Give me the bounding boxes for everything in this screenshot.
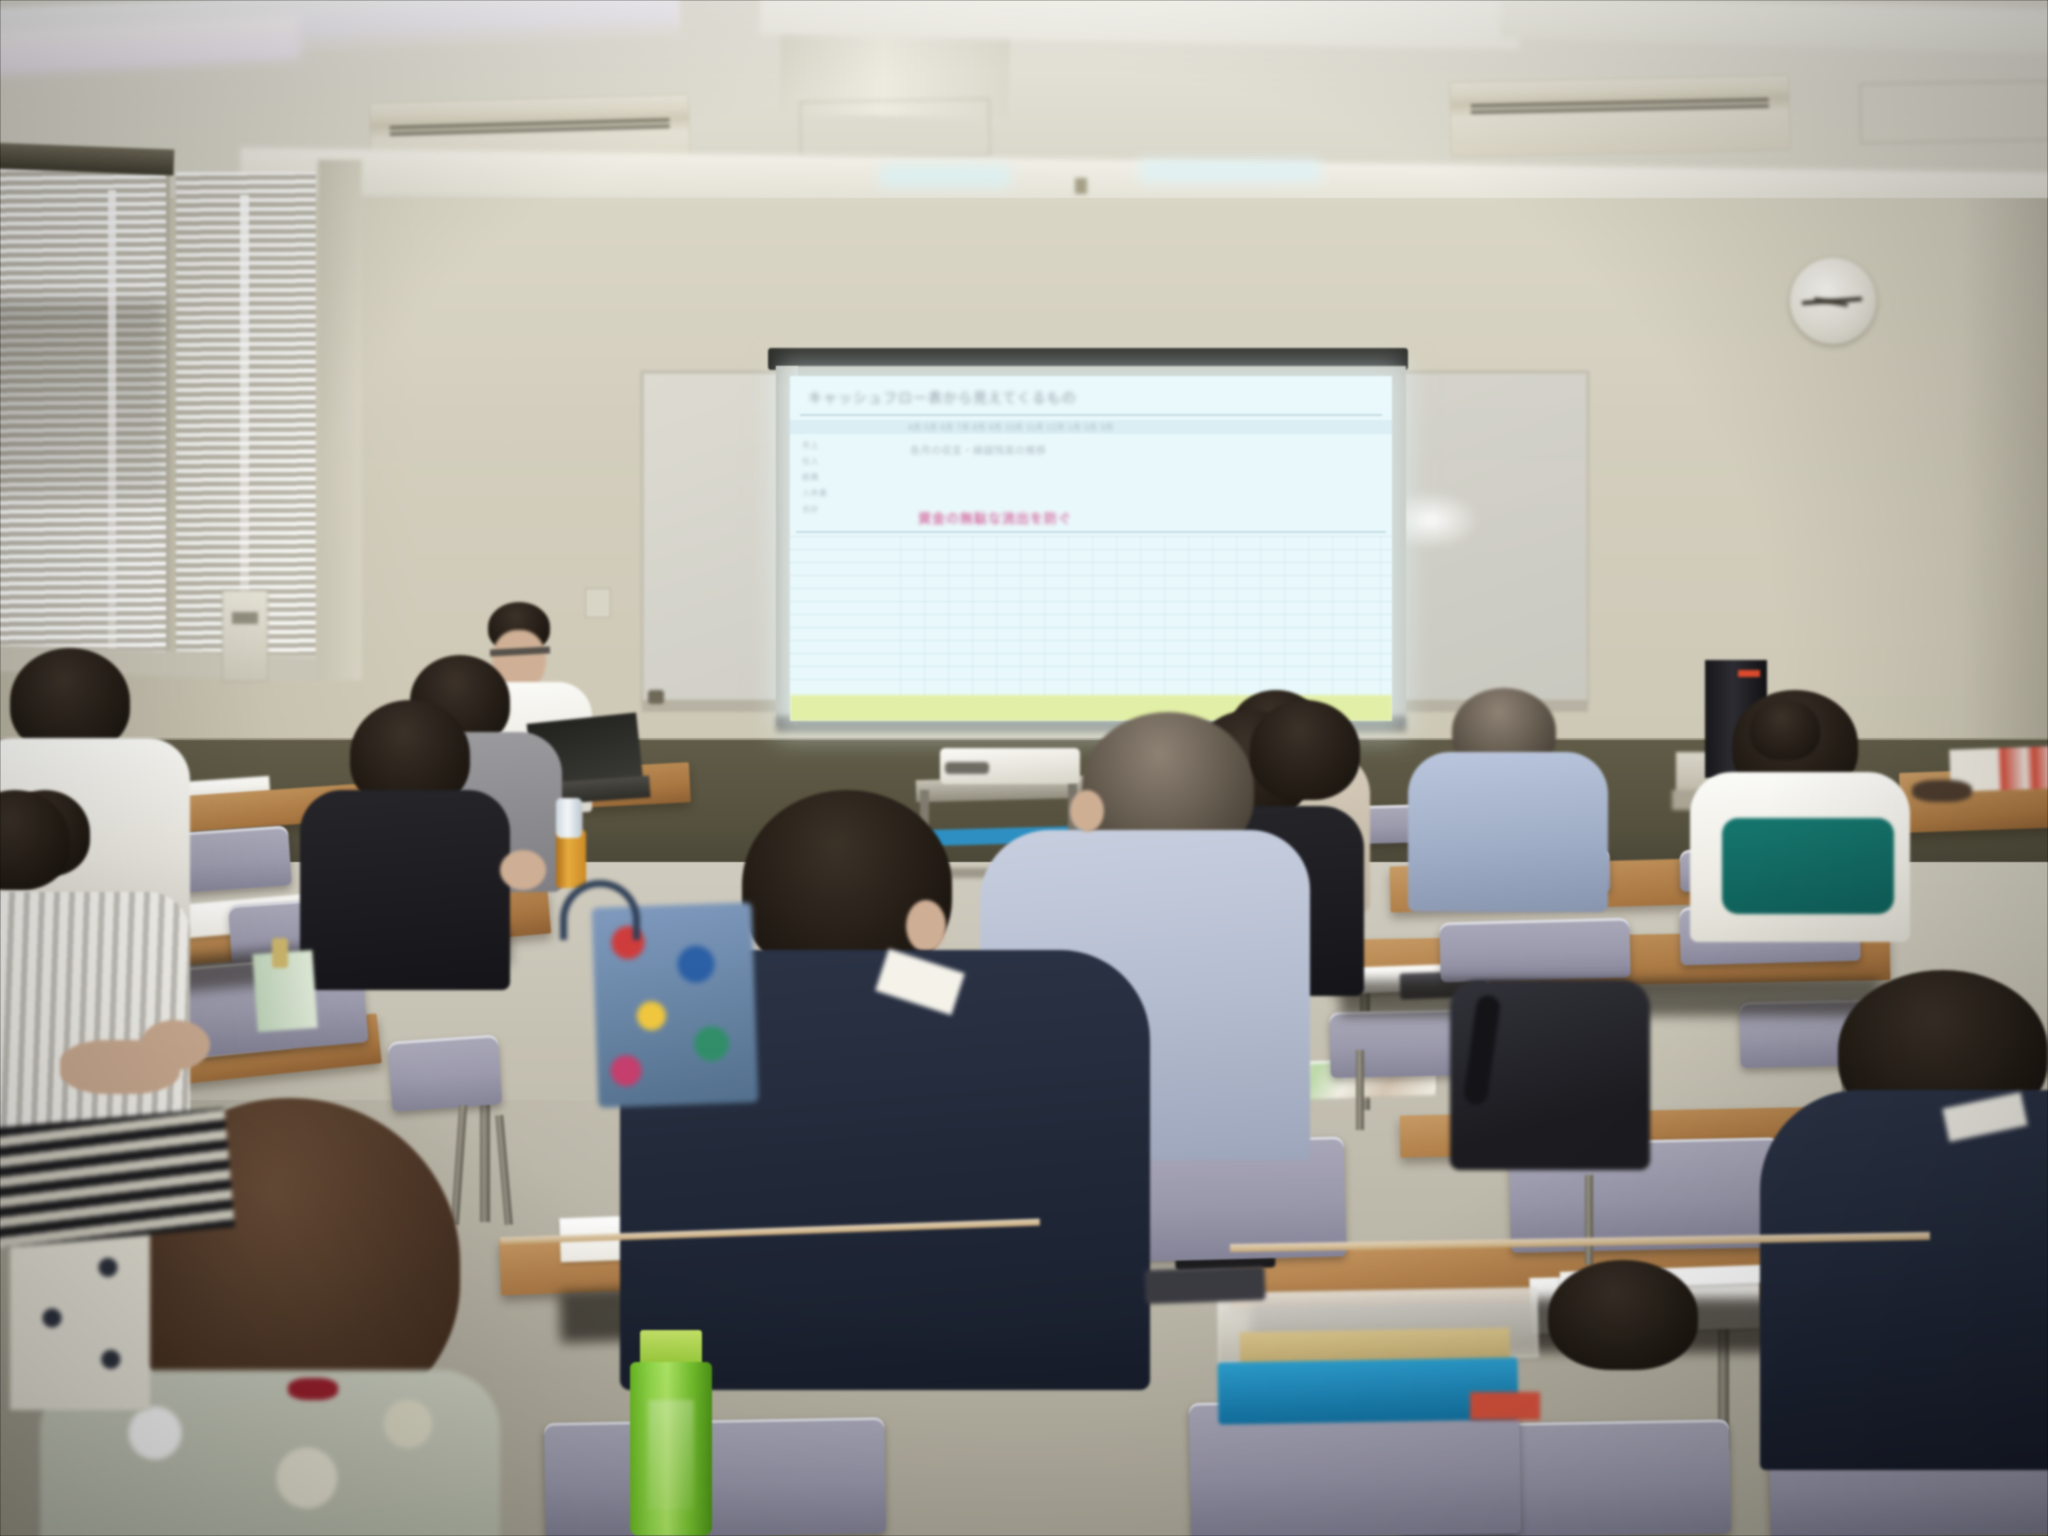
foreground-woman-hair-accessory: [288, 1378, 338, 1400]
slide-row-label-4: 人件費: [802, 488, 828, 499]
ceiling-light-glow-b: [1140, 160, 1320, 182]
projector-lens: [945, 762, 989, 774]
slide-grid-columns: [900, 536, 1392, 696]
audience-torso-black: [300, 790, 510, 990]
ceiling-light-glow-a: [880, 165, 1010, 187]
chair[interactable]: [388, 1034, 503, 1112]
slide-rule-mid: [796, 531, 1386, 533]
blind-cord-left[interactable]: [108, 190, 116, 650]
slide-row-label-2: 仕入: [802, 456, 819, 467]
chair[interactable]: [544, 1417, 886, 1536]
slide-column-header: 4月 5月 6月 7月 8月 9月 10月 11月 12月 1月 2月 3月: [908, 422, 1114, 433]
slide-data-row: [804, 544, 807, 553]
audience-hair: [1750, 700, 1820, 760]
audience-torso-blue-shirt: [1408, 752, 1608, 912]
stacked-chairs: [0, 1108, 235, 1248]
whiteboard-magnet: [648, 690, 664, 704]
chair-leg: [1585, 1175, 1593, 1265]
wall-intercom-panel: [232, 612, 258, 624]
water-bottle: [556, 798, 582, 838]
ceiling-sensor: [1075, 178, 1087, 194]
slide-row-label-1: 売上: [802, 440, 819, 451]
slide-rule-top: [800, 414, 1382, 416]
wall-pilaster: [318, 160, 362, 680]
slide-row-label-5: 合計: [802, 504, 819, 515]
wall-socket[interactable]: [585, 588, 611, 618]
audience-ear: [906, 900, 946, 952]
slide-row-label-3: 経費: [802, 472, 819, 483]
audience-hair: [1548, 1260, 1698, 1370]
slide-subtitle: 各月の収支・繰越残高の推移: [910, 442, 1047, 457]
slide-secondary-note: [920, 474, 954, 486]
projected-slide: キャッシュフロー表から見えてくるもの 4月 5月 6月 7月 8月 9月 10月…: [790, 376, 1392, 721]
wall-corner-right: [1960, 198, 2048, 758]
green-tea-bottle-label: [648, 1400, 694, 1510]
audience-torso-right-suit: [1760, 1090, 2048, 1470]
audience-hair: [1250, 700, 1360, 800]
speaker-indicator-light: [1738, 670, 1760, 677]
pen: [272, 938, 288, 968]
wall-clock: [1790, 258, 1876, 344]
ceiling-panel-right: [1859, 80, 2048, 143]
slide-highlight-note: [1140, 510, 1164, 522]
orange-bottle: [556, 830, 586, 888]
dark-case-on-table: [1144, 1266, 1265, 1304]
audience-teal-band: [1722, 818, 1894, 914]
chair-leg: [1356, 1050, 1364, 1130]
dark-object-on-side-table: [1912, 780, 1972, 802]
audience-arm: [60, 1040, 180, 1094]
slide-title: キャッシュフロー表から見えてくるもの: [808, 388, 1362, 406]
seminar-room-photo: キャッシュフロー表から見えてくるもの 4月 5月 6月 7月 8月 9月 10月…: [0, 0, 2048, 1536]
ceiling-panel-left: [800, 98, 991, 159]
blinds-shadow: [0, 300, 166, 500]
blind-cord-right[interactable]: [240, 195, 249, 645]
wall-intercom[interactable]: [222, 590, 268, 682]
audience-hand: [500, 850, 546, 890]
audience-ear: [1070, 790, 1104, 832]
slide-highlight-text: 資金の無駄な流出を防ぐ: [918, 508, 1072, 527]
chair[interactable]: [1439, 918, 1631, 983]
red-file-tab: [1470, 1392, 1540, 1420]
slide-data-row: [804, 562, 807, 571]
air-conditioner-vent-right: [1449, 74, 1791, 157]
